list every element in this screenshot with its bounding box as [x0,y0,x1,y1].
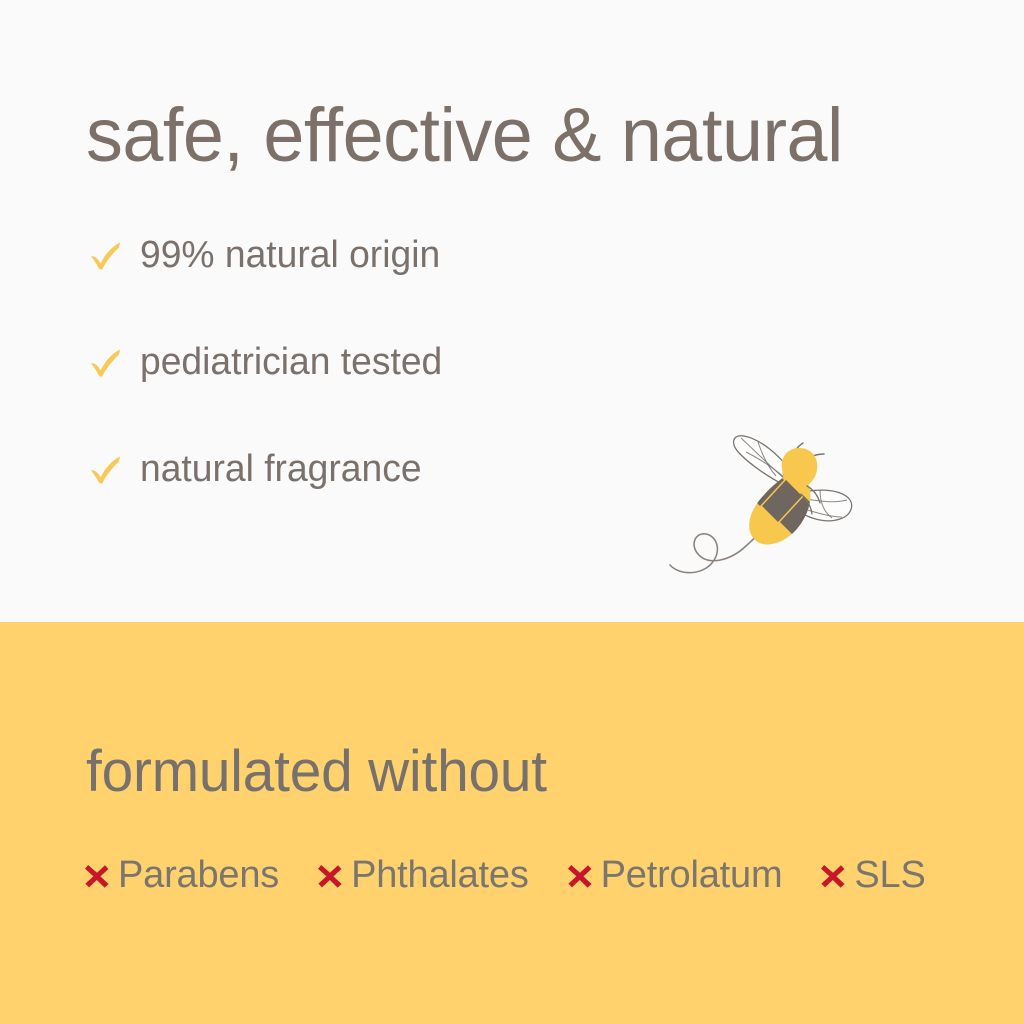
list-item: natural fragrance [86,442,448,496]
formulated-without-section: formulated without Parabens Phthalates P… [0,622,1024,1024]
list-item: Petrolatum [567,854,783,897]
x-icon [317,863,343,889]
excluded-ingredient-label: Petrolatum [601,854,783,897]
check-icon [86,342,126,382]
excluded-ingredient-label: Phthalates [351,854,529,897]
x-icon [84,863,110,889]
check-icon [86,235,126,275]
excluded-ingredient-label: SLS [854,854,925,897]
x-icon [820,863,846,889]
product-benefits-poster: safe, effective & natural 99% natural or… [0,0,1024,1024]
benefit-label: pediatrician tested [140,341,442,384]
excluded-ingredient-label: Parabens [118,854,279,897]
benefits-section: safe, effective & natural 99% natural or… [0,0,1024,622]
excluded-ingredient-list: Parabens Phthalates Petrolatum SLS [84,854,926,897]
benefit-label: natural fragrance [140,448,422,491]
bee-icon [662,424,862,592]
page-title: safe, effective & natural [86,98,843,174]
benefit-list: 99% natural origin pediatrician tested n… [86,228,448,496]
list-item: Parabens [84,854,279,897]
check-icon [86,449,126,489]
list-item: pediatrician tested [86,335,448,389]
list-item: Phthalates [317,854,529,897]
list-item: 99% natural origin [86,228,448,282]
benefit-label: 99% natural origin [140,234,440,277]
x-icon [567,863,593,889]
list-item: SLS [820,854,925,897]
section-title: formulated without [86,743,547,801]
